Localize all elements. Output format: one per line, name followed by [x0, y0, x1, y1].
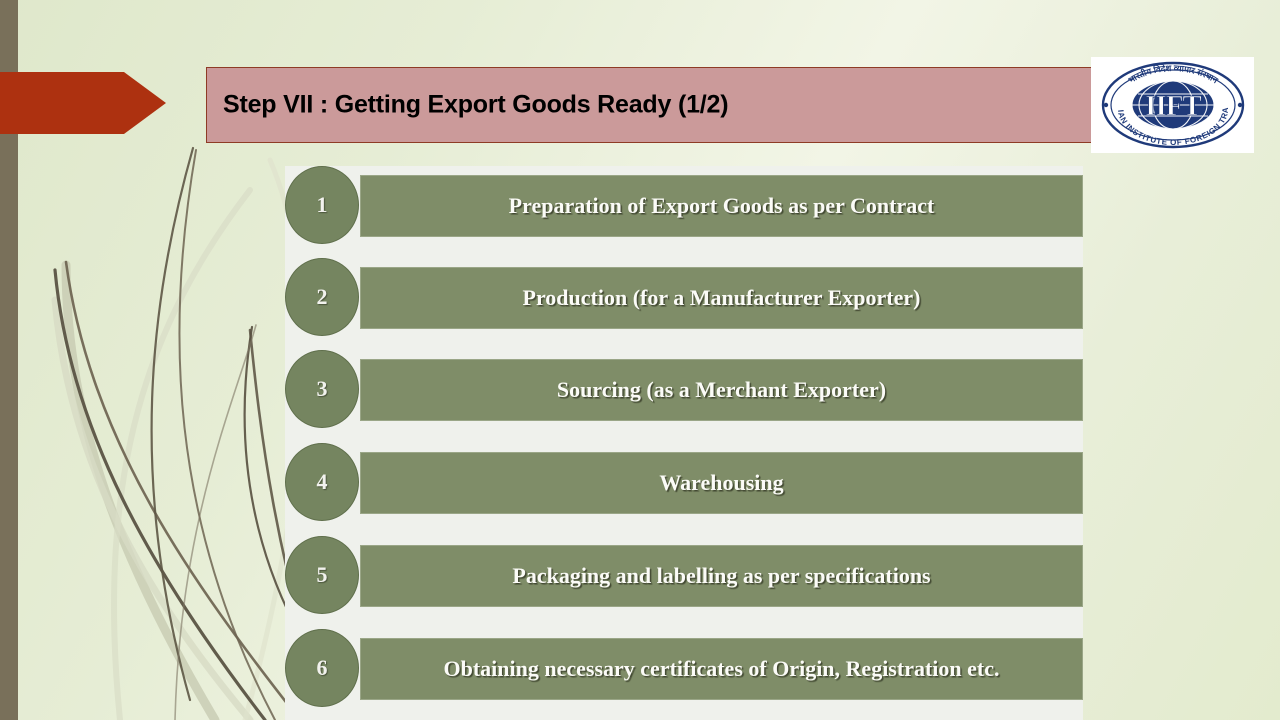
iift-logo-mark: IIFT भारतीय विदेश व्यापार संस्थान INDIAN… — [1098, 61, 1248, 149]
step-row-2[interactable]: 2 Production (for a Manufacturer Exporte… — [285, 258, 1083, 336]
slide-title-bar: Step VII : Getting Export Goods Ready (1… — [206, 67, 1093, 143]
step-label-6: Obtaining necessary certificates of Orig… — [434, 657, 1010, 681]
step-number-2: 2 — [317, 284, 328, 310]
title-arrow-accent — [0, 72, 166, 134]
step-number-circle-3: 3 — [285, 350, 359, 428]
step-row-4[interactable]: 4 Warehousing — [285, 443, 1083, 521]
svg-text:IIFT: IIFT — [1145, 90, 1201, 122]
steps-panel: 1 Preparation of Export Goods as per Con… — [285, 166, 1083, 720]
step-label-3: Sourcing (as a Merchant Exporter) — [547, 378, 896, 402]
step-label-5: Packaging and labelling as per specifica… — [502, 564, 940, 588]
step-number-circle-4: 4 — [285, 443, 359, 521]
step-box-3[interactable]: Sourcing (as a Merchant Exporter) — [360, 359, 1083, 421]
step-number-circle-2: 2 — [285, 258, 359, 336]
step-number-5: 5 — [317, 562, 328, 588]
step-label-2: Production (for a Manufacturer Exporter) — [513, 286, 931, 310]
step-number-circle-6: 6 — [285, 629, 359, 707]
presentation-slide: Step VII : Getting Export Goods Ready (1… — [0, 0, 1280, 720]
step-box-6[interactable]: Obtaining necessary certificates of Orig… — [360, 638, 1083, 700]
step-row-3[interactable]: 3 Sourcing (as a Merchant Exporter) — [285, 350, 1083, 428]
step-row-5[interactable]: 5 Packaging and labelling as per specifi… — [285, 536, 1083, 614]
step-box-4[interactable]: Warehousing — [360, 452, 1083, 514]
step-row-1[interactable]: 1 Preparation of Export Goods as per Con… — [285, 166, 1083, 244]
step-number-6: 6 — [317, 655, 328, 681]
step-row-6[interactable]: 6 Obtaining necessary certificates of Or… — [285, 629, 1083, 707]
step-number-3: 3 — [317, 376, 328, 402]
step-number-1: 1 — [317, 192, 328, 218]
page-title: Step VII : Getting Export Goods Ready (1… — [223, 91, 728, 120]
step-number-4: 4 — [317, 469, 328, 495]
iift-logo: IIFT भारतीय विदेश व्यापार संस्थान INDIAN… — [1091, 57, 1254, 153]
step-label-4: Warehousing — [649, 471, 793, 495]
step-box-1[interactable]: Preparation of Export Goods as per Contr… — [360, 175, 1083, 237]
step-box-2[interactable]: Production (for a Manufacturer Exporter) — [360, 267, 1083, 329]
step-number-circle-5: 5 — [285, 536, 359, 614]
step-box-5[interactable]: Packaging and labelling as per specifica… — [360, 545, 1083, 607]
step-number-circle-1: 1 — [285, 166, 359, 244]
step-label-1: Preparation of Export Goods as per Contr… — [499, 194, 945, 218]
